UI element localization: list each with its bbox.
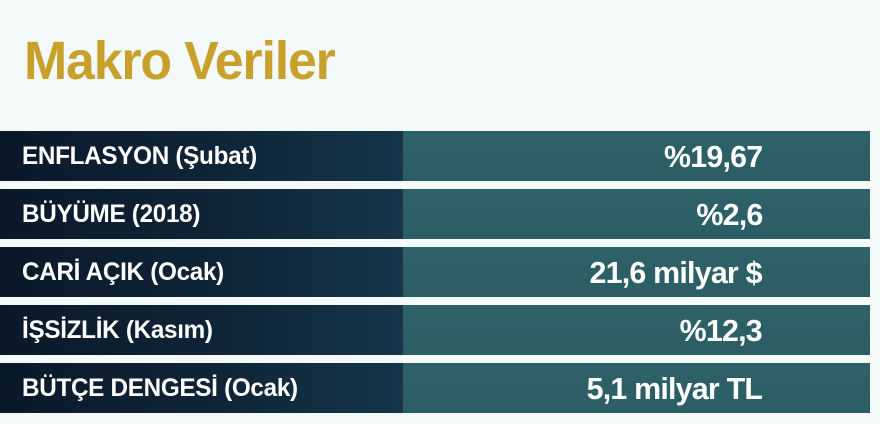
table-row: BÜYÜME (2018) %2,6 (0, 189, 880, 239)
row-tail (870, 247, 880, 297)
table-row: İŞSİZLİK (Kasım) %12,3 (0, 305, 880, 355)
table-row: BÜTÇE DENGESİ (Ocak) 5,1 milyar TL (0, 363, 880, 413)
row-value: 21,6 milyar $ (590, 257, 762, 288)
row-value-cell: %2,6 (403, 189, 870, 239)
row-value-cell: %19,67 (403, 131, 870, 181)
row-label: BÜTÇE DENGESİ (Ocak) (22, 376, 298, 401)
row-tail (870, 131, 880, 181)
row-label-cell: ENFLASYON (Şubat) (0, 131, 403, 181)
table-row: ENFLASYON (Şubat) %19,67 (0, 131, 880, 181)
row-label-cell: BÜTÇE DENGESİ (Ocak) (0, 363, 403, 413)
row-label-cell: CARİ AÇIK (Ocak) (0, 247, 403, 297)
row-tail (870, 363, 880, 413)
row-value-cell: %12,3 (403, 305, 870, 355)
title-area: Makro Veriler (0, 0, 880, 122)
row-value: %12,3 (680, 315, 762, 346)
row-tail (870, 305, 880, 355)
row-label: İŞSİZLİK (Kasım) (22, 318, 213, 343)
row-value-cell: 21,6 milyar $ (403, 247, 870, 297)
row-label-cell: BÜYÜME (2018) (0, 189, 403, 239)
row-tail (870, 189, 880, 239)
row-label: CARİ AÇIK (Ocak) (22, 260, 224, 285)
row-value-cell: 5,1 milyar TL (403, 363, 870, 413)
row-value: %2,6 (696, 199, 762, 230)
row-value: 5,1 milyar TL (586, 373, 762, 404)
table-row: CARİ AÇIK (Ocak) 21,6 milyar $ (0, 247, 880, 297)
macro-data-slide: Makro Veriler ENFLASYON (Şubat) %19,67 B… (0, 0, 880, 424)
row-value: %19,67 (664, 141, 762, 172)
row-label-cell: İŞSİZLİK (Kasım) (0, 305, 403, 355)
macro-data-table: ENFLASYON (Şubat) %19,67 BÜYÜME (2018) %… (0, 131, 880, 413)
row-label: ENFLASYON (Şubat) (22, 144, 257, 169)
page-title: Makro Veriler (24, 34, 335, 88)
row-label: BÜYÜME (2018) (22, 202, 200, 227)
